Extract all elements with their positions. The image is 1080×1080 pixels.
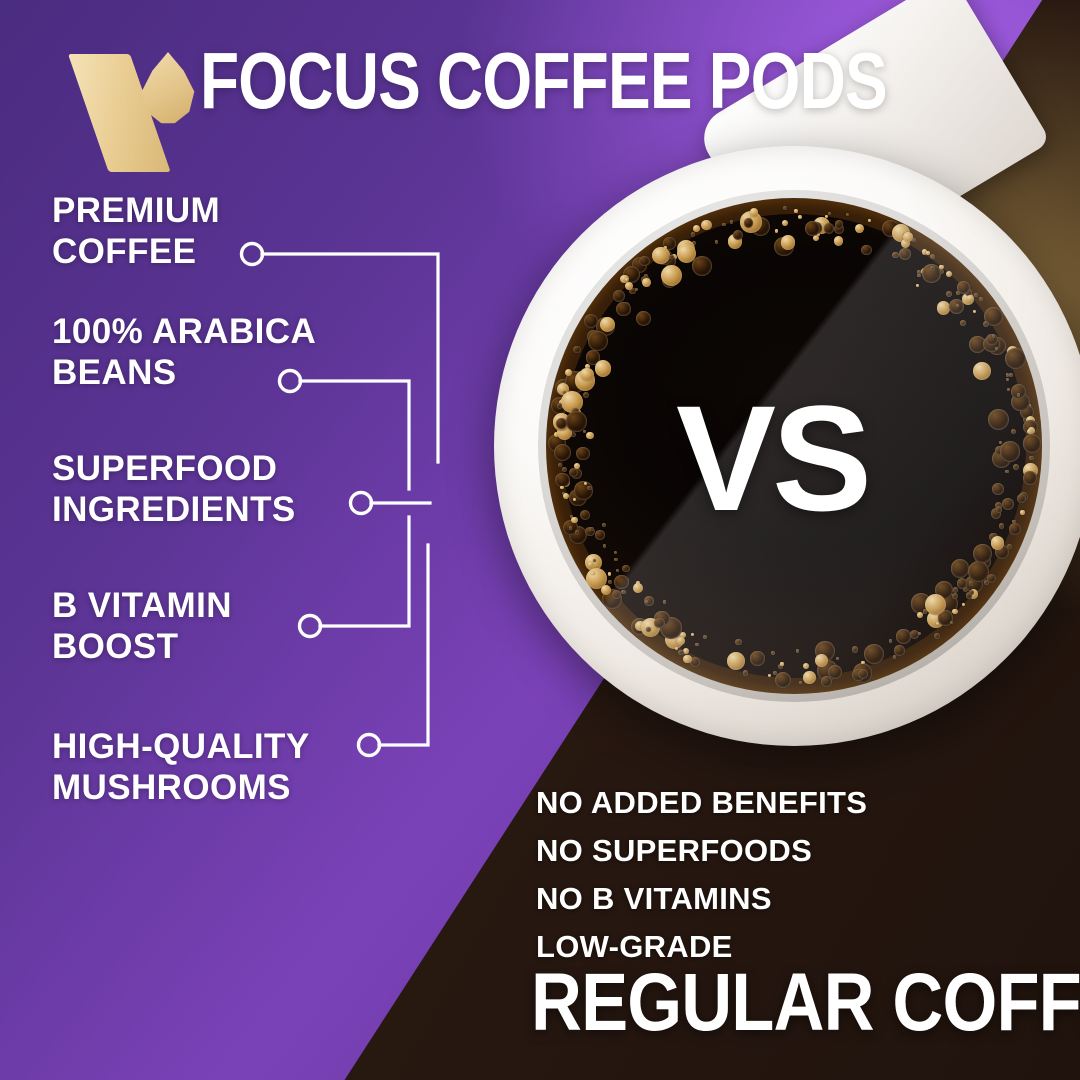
feature-label-b-vitamin-boost: B VITAMIN BOOST [52, 586, 232, 667]
drawback-no-b-vitamins: NO B VITAMINS [536, 881, 772, 917]
infographic-canvas: FOCUS COFFEE PODS PREMIUM COFFEE 100% AR… [0, 0, 1080, 1080]
page-title: FOCUS COFFEE PODS [200, 41, 887, 121]
drawback-no-superfoods: NO SUPERFOODS [536, 833, 812, 869]
versus-label: VS [676, 383, 868, 533]
feature-label-premium-coffee: PREMIUM COFFEE [52, 191, 220, 272]
drawback-no-added-benefits: NO ADDED BENEFITS [536, 785, 867, 821]
feature-label-mushrooms: HIGH-QUALITY MUSHROOMS [52, 727, 310, 808]
feature-label-arabica-beans: 100% ARABICA BEANS [52, 312, 316, 393]
feature-label-superfood-ingredients: SUPERFOOD INGREDIENTS [52, 449, 296, 530]
brand-logo [62, 38, 187, 158]
regular-coffee-headline: REGULAR COFFEE [531, 962, 1080, 1044]
